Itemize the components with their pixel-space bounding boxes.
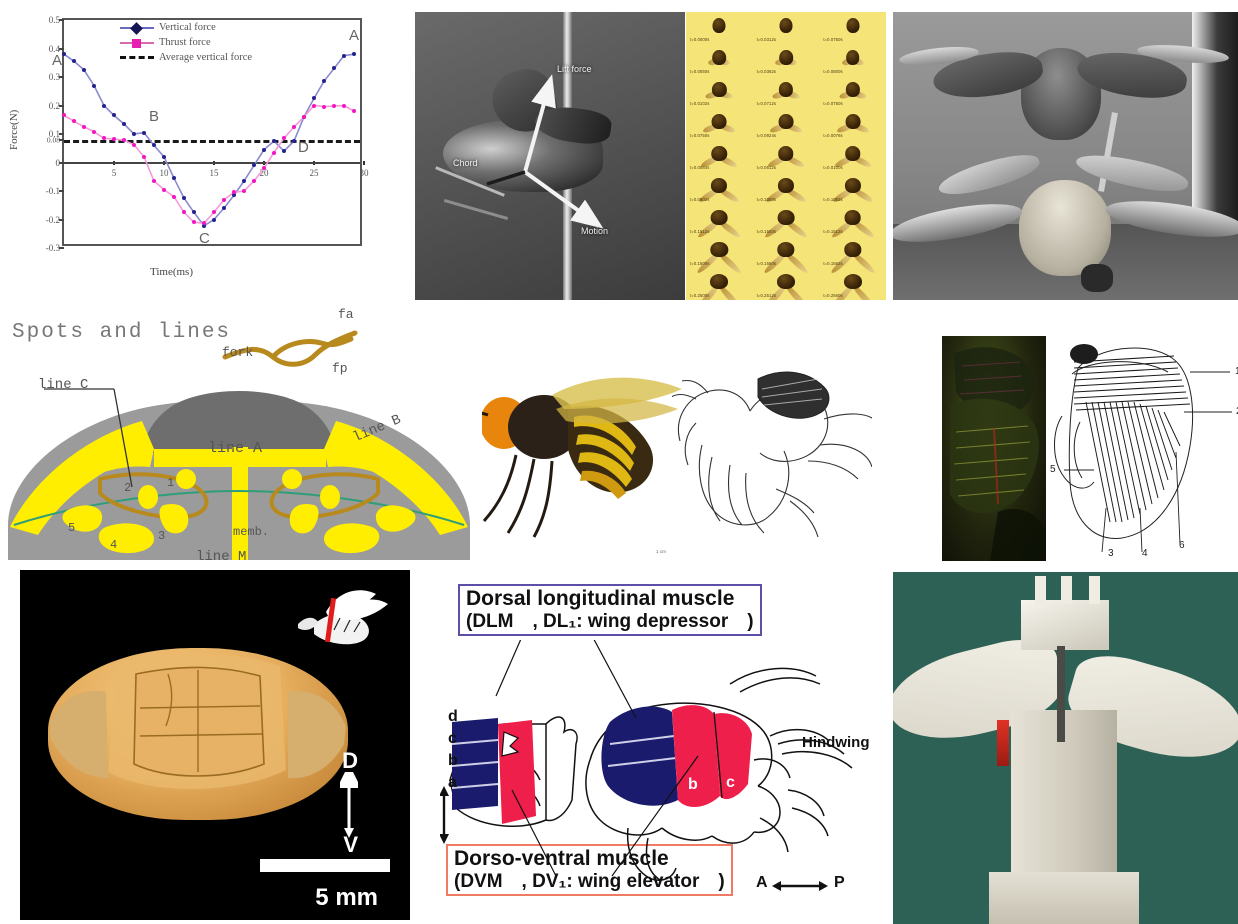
chart-point xyxy=(312,96,316,100)
chart-point xyxy=(112,137,116,141)
chart-point xyxy=(62,113,66,117)
beetle-body xyxy=(779,114,794,129)
hornet-line-drawing xyxy=(672,349,872,554)
chart-point xyxy=(182,210,186,214)
beetle-body xyxy=(844,242,861,257)
posterior-label: P xyxy=(834,874,845,892)
chart-point xyxy=(72,59,76,63)
chart-point xyxy=(102,136,106,140)
sequence-frame: t=0.0902s xyxy=(686,172,753,204)
robot-red-switch xyxy=(997,720,1009,766)
label-line-c: line C xyxy=(38,377,88,393)
chart-point xyxy=(292,125,296,129)
chart-point xyxy=(172,195,176,199)
wasp-silhouette-inset xyxy=(284,584,394,654)
sequence-timestamp: t=0.1500s xyxy=(757,229,776,234)
label-fa: fa xyxy=(338,307,354,322)
chart-y-tick-label: -0.2 xyxy=(46,215,60,225)
beetle-body xyxy=(845,178,861,193)
muscle-section-panel: 1 2 3 4 5 6 xyxy=(940,332,1238,564)
beetle-body xyxy=(777,242,794,257)
chart-point xyxy=(92,130,96,134)
label-line-m: line M xyxy=(196,549,246,563)
chart-y-tick-label: -0.1 xyxy=(46,186,60,196)
chart-point xyxy=(162,155,166,159)
beetle-body xyxy=(778,178,794,193)
spot-number-4: 4 xyxy=(110,538,117,552)
scale-bar xyxy=(260,859,390,872)
spot-number-3: 3 xyxy=(158,529,165,543)
sequence-frame: t=0.0512s xyxy=(753,140,820,172)
label-fp: fp xyxy=(332,361,348,376)
chart-point xyxy=(152,179,156,183)
chart-point xyxy=(322,79,326,83)
sequence-frame: t=0.0750s xyxy=(819,12,886,44)
dlm-subtitle: (DLM , DL₁: wing depressor ) xyxy=(466,611,754,632)
sequence-timestamp: t=0.0362s xyxy=(757,69,776,74)
chart-point xyxy=(152,143,156,147)
section-number-4: 4 xyxy=(1142,548,1148,559)
beetle-body xyxy=(779,50,793,65)
sequence-timestamp: t=0.0750s xyxy=(823,37,842,42)
sequence-frame: t=0.2560s xyxy=(819,268,886,300)
chart-point xyxy=(172,176,176,180)
legend-item-thrust-force: Thrust force xyxy=(120,35,252,50)
chart-point xyxy=(352,109,356,113)
chart-point xyxy=(242,189,246,193)
beetle-body xyxy=(845,114,860,129)
sequence-timestamp: t=0.0800s xyxy=(823,69,842,74)
legend-label-average-vertical-force: Average vertical force xyxy=(159,50,252,65)
dlm-left-block xyxy=(452,718,498,810)
sequence-timestamp: t=0.1000s xyxy=(757,197,776,202)
spots-title: Spots and lines xyxy=(12,321,231,344)
chart-point xyxy=(302,115,306,119)
chart-point xyxy=(212,210,216,214)
chart-point xyxy=(232,190,236,194)
beetle-body xyxy=(711,210,728,225)
sequence-frame: t=0.0100s xyxy=(819,140,886,172)
chart-y-tick-label: -0.3 xyxy=(46,243,60,253)
beetle-body xyxy=(711,242,728,257)
spot-number-5: 5 xyxy=(68,521,75,535)
chart-point xyxy=(332,66,336,70)
chart-point xyxy=(112,113,116,117)
chart-point xyxy=(142,155,146,159)
sequence-timestamp: t=0.0000s xyxy=(690,37,709,42)
sequence-frame: t=0.0750s xyxy=(686,108,753,140)
sequence-frame: t=0.2500s xyxy=(686,268,753,300)
beetle-body xyxy=(713,18,726,33)
sequence-timestamp: t=0.1052s xyxy=(823,197,842,202)
beetle-body xyxy=(779,18,792,33)
chart-y-axis-label: Force(N) xyxy=(8,110,20,150)
beetle-body xyxy=(846,18,859,33)
beetle-body xyxy=(844,210,861,225)
force-time-chart-panel: Force(N) Time(ms) 0.50.40.30.20.10.080-0… xyxy=(0,0,410,300)
hornet-panel: 1 cm xyxy=(482,345,872,563)
lower-beetle-mount xyxy=(1081,264,1113,292)
chart-point xyxy=(82,68,86,72)
thorax-cross-section-panel: D V 5 mm xyxy=(20,570,410,920)
chart-point xyxy=(182,196,186,200)
dlm-title: Dorsal longitudinal muscle xyxy=(466,588,754,611)
lower-beetle-elytron-left xyxy=(935,148,1042,202)
beetle-body xyxy=(777,274,795,289)
chart-point xyxy=(192,220,196,224)
sequence-timestamp: t=0.1512s xyxy=(690,229,709,234)
sequence-timestamp: t=0.0076s xyxy=(823,133,842,138)
chord-label: Chord xyxy=(453,158,478,168)
sequence-timestamp: t=0.0312s xyxy=(757,37,776,42)
sequence-frame: t=0.0750s xyxy=(819,76,886,108)
thorax-specimen xyxy=(48,648,348,820)
spots-and-lines-panel: Spots and lines fa fork fp xyxy=(0,303,470,563)
hornet-scale-bar-label: 1 cm xyxy=(634,549,688,555)
chart-annotation-c: C xyxy=(199,230,210,247)
beetle-body xyxy=(846,82,860,97)
legend-marker-dashdot-icon xyxy=(120,52,154,64)
dorsal-direction-label: D xyxy=(342,748,358,774)
sequence-timestamp: t=0.1562s xyxy=(823,261,842,266)
spot-number-1: 1 xyxy=(167,476,174,490)
chart-annotation-a: A xyxy=(52,52,62,69)
letter-d-label: d xyxy=(448,708,458,726)
legend-marker-diamond-icon xyxy=(120,22,154,34)
chart-annotation-b: B xyxy=(149,108,159,125)
sequence-grid: t=0.0000st=0.0312st=0.0750st=0.0050st=0.… xyxy=(686,12,886,300)
sequence-timestamp: t=0.0050s xyxy=(690,69,709,74)
chart-point xyxy=(92,84,96,88)
hornet-photograph xyxy=(482,351,682,551)
sequence-frame: t=0.0000s xyxy=(686,12,753,44)
beetle-body xyxy=(778,146,794,161)
ventral-direction-label: V xyxy=(343,832,358,858)
flapping-wing-robot-panel xyxy=(893,572,1238,924)
histology-photograph xyxy=(942,336,1046,561)
anterior-label: A xyxy=(756,874,768,892)
muscle-schematic xyxy=(440,640,890,900)
beetle-body xyxy=(778,210,795,225)
muscle-line-drawing xyxy=(1050,332,1238,560)
sequence-timestamp: t=0.0750s xyxy=(690,133,709,138)
beetle-body xyxy=(844,274,862,289)
section-number-6: 6 xyxy=(1179,540,1185,551)
chart-point xyxy=(62,52,66,56)
beetle-body xyxy=(710,274,728,289)
chart-point xyxy=(272,139,276,143)
beetle-body xyxy=(711,178,727,193)
chart-point xyxy=(202,221,206,225)
takeoff-sequence-panel: t=0.0000st=0.0312st=0.0750st=0.0050st=0.… xyxy=(686,12,886,300)
chart-point xyxy=(292,139,296,143)
chart-point xyxy=(282,136,286,140)
chart-point xyxy=(332,104,336,108)
label-memb: memb. xyxy=(233,525,269,539)
robot-linkage xyxy=(1057,646,1065,742)
flight-muscle-diagram-panel: Dorsal longitudinal muscle (DLM , DL₁: w… xyxy=(440,578,890,924)
chart-point xyxy=(72,119,76,123)
section-number-3: 3 xyxy=(1108,548,1114,559)
sequence-frame: t=0.1550s xyxy=(753,236,820,268)
label-line-a: line A xyxy=(208,440,262,457)
sequence-frame: t=0.1500s xyxy=(686,236,753,268)
sequence-frame: t=0.0800s xyxy=(819,44,886,76)
chart-annotation-a: A xyxy=(349,27,359,44)
beetle-body xyxy=(712,146,728,161)
sequence-frame: t=0.1052s xyxy=(819,172,886,204)
dlm-callout-box: Dorsal longitudinal muscle (DLM , DL₁: w… xyxy=(458,584,762,636)
sequence-timestamp: t=0.1512s xyxy=(823,229,842,234)
robot-post-mid xyxy=(1061,576,1072,604)
chart-point xyxy=(82,125,86,129)
sequence-frame: t=0.1500s xyxy=(753,204,820,236)
spot-number-2: 2 xyxy=(124,481,131,495)
letter-b-label: b xyxy=(448,752,458,770)
chart-annotation-d: D xyxy=(298,139,309,156)
chart-point xyxy=(122,138,126,142)
chart-point xyxy=(122,122,126,126)
sequence-timestamp: t=0.2512s xyxy=(757,293,776,298)
chart-point xyxy=(132,143,136,147)
label-fork: fork xyxy=(222,345,253,360)
chart-point xyxy=(252,163,256,167)
hindwing-label: Hindwing xyxy=(802,734,870,751)
chart-point xyxy=(242,179,246,183)
chart-point xyxy=(312,104,316,108)
sequence-frame: t=0.1512s xyxy=(686,204,753,236)
chart-x-axis-label: Time(ms) xyxy=(150,266,193,278)
legend-label-vertical-force: Vertical force xyxy=(159,20,216,35)
right-letter-b-label: b xyxy=(688,776,698,794)
chart-point xyxy=(342,104,346,108)
legend-item-vertical-force: Vertical force xyxy=(120,20,252,35)
lower-beetle-body xyxy=(1019,180,1111,276)
sequence-frame: t=0.1562s xyxy=(819,236,886,268)
robot-gearbox-housing xyxy=(1021,600,1109,650)
legend-label-thrust-force: Thrust force xyxy=(159,35,211,50)
chart-point xyxy=(102,104,106,108)
scale-bar-label: 5 mm xyxy=(315,884,378,912)
legend-item-average-vertical-force: Average vertical force xyxy=(120,50,252,65)
beetle-body xyxy=(845,146,861,161)
sequence-timestamp: t=0.0712s xyxy=(757,101,776,106)
right-letter-c-label: c xyxy=(726,774,735,792)
chart-point xyxy=(262,166,266,170)
chart-point xyxy=(162,188,166,192)
sequence-timestamp: t=0.0100s xyxy=(823,165,842,170)
sequence-timestamp: t=0.0750s xyxy=(823,101,842,106)
robot-base-plate xyxy=(989,872,1139,924)
sequence-timestamp: t=0.0902s xyxy=(690,197,709,202)
chart-point xyxy=(342,54,346,58)
chart-point xyxy=(352,52,356,56)
section-number-5: 5 xyxy=(1050,464,1056,475)
dorsal-ventral-axis-arrow xyxy=(440,786,450,844)
chart-point xyxy=(212,218,216,222)
sequence-frame: t=0.0362s xyxy=(753,44,820,76)
sequence-timestamp: t=0.0512s xyxy=(757,165,776,170)
sequence-frame: t=0.0924s xyxy=(753,108,820,140)
beetle-body xyxy=(713,50,727,65)
sequence-timestamp: t=0.0924s xyxy=(757,133,776,138)
chart-point xyxy=(282,149,286,153)
sequence-frame: t=0.0050s xyxy=(686,44,753,76)
letter-c-label: c xyxy=(448,730,457,748)
chart-series-line xyxy=(64,54,354,226)
chart-point xyxy=(132,132,136,136)
sequence-frame: t=0.2512s xyxy=(753,268,820,300)
sequence-timestamp: t=0.0084s xyxy=(690,165,709,170)
beetle-body xyxy=(712,82,726,97)
figure-collage: Force(N) Time(ms) 0.50.40.30.20.10.080-0… xyxy=(0,0,1238,924)
legend-marker-square-icon xyxy=(120,37,154,49)
motion-label: Motion xyxy=(581,226,608,236)
sequence-timestamp: t=0.1550s xyxy=(757,261,776,266)
chart-point xyxy=(192,210,196,214)
sequence-frame: t=0.0084s xyxy=(686,140,753,172)
beetle-body xyxy=(712,114,727,129)
robot-post-left xyxy=(1035,576,1046,604)
chart-legend: Vertical force Thrust force Average vert… xyxy=(120,20,252,65)
chart-point xyxy=(222,198,226,202)
chart-point xyxy=(322,105,326,109)
sequence-timestamp: t=0.0102s xyxy=(690,101,709,106)
tethered-beetle-panel: Lift force Chord Motion xyxy=(415,12,685,300)
sequence-frame: t=0.0076s xyxy=(819,108,886,140)
sequence-frame: t=0.0102s xyxy=(686,76,753,108)
force-arrows xyxy=(415,12,685,300)
chart-point xyxy=(222,206,226,210)
mounted-beetles-panel xyxy=(893,12,1238,300)
beetle-body xyxy=(779,82,793,97)
beetle-body xyxy=(846,50,860,65)
sequence-timestamp: t=0.2560s xyxy=(823,293,842,298)
chart-point xyxy=(262,148,266,152)
lift-force-label: Lift force xyxy=(557,64,592,74)
chart-point xyxy=(272,151,276,155)
sequence-frame: t=0.1512s xyxy=(819,204,886,236)
sequence-frame: t=0.0312s xyxy=(753,12,820,44)
sequence-frame: t=0.1000s xyxy=(753,172,820,204)
sequence-timestamp: t=0.1500s xyxy=(690,261,709,266)
dlm-right-block xyxy=(601,707,678,806)
anterior-posterior-arrow xyxy=(772,878,828,894)
chart-series-line xyxy=(64,106,354,224)
robot-post-right xyxy=(1089,576,1100,604)
chart-point xyxy=(252,179,256,183)
sequence-timestamp: t=0.2500s xyxy=(690,293,709,298)
chart-point xyxy=(142,131,146,135)
sequence-frame: t=0.0712s xyxy=(753,76,820,108)
